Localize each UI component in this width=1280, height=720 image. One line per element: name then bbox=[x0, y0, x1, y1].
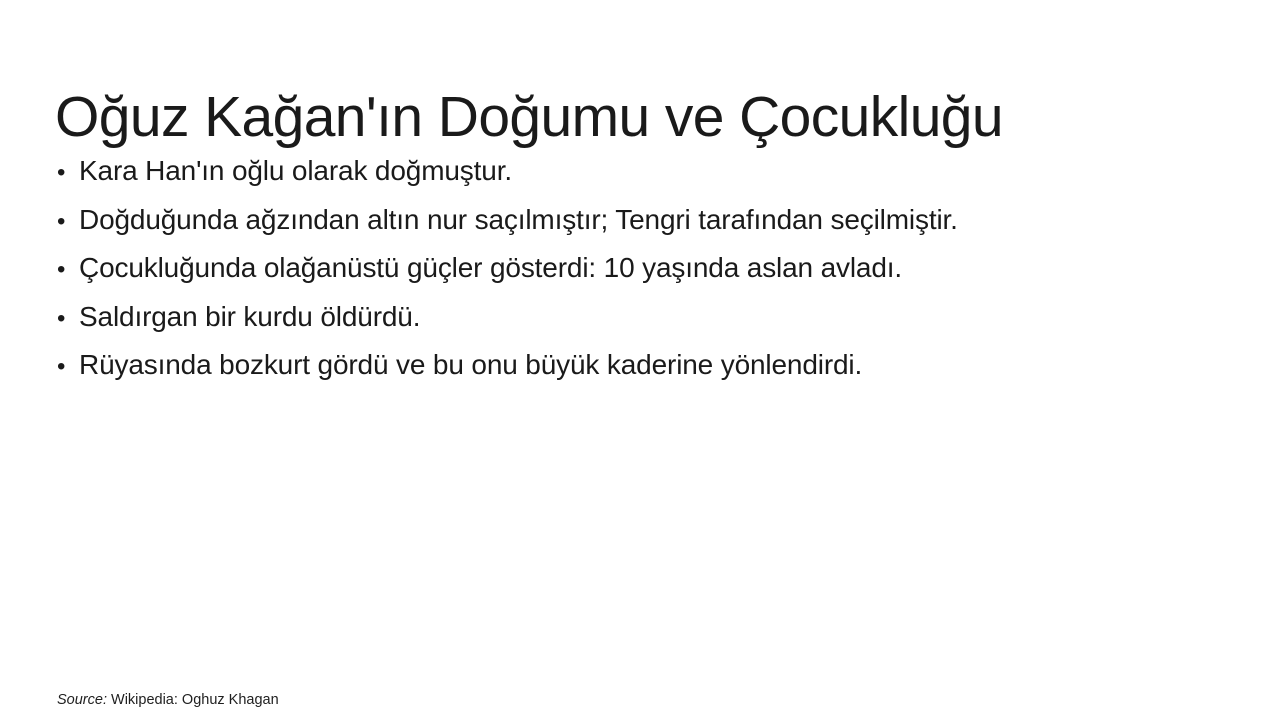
source-label: Source: bbox=[57, 692, 107, 708]
bullet-dot-icon: • bbox=[57, 296, 79, 343]
list-item-text: Kara Han'ın oğlu olarak doğmuştur. bbox=[79, 148, 512, 195]
source-value: Wikipedia: Oghuz Khagan bbox=[111, 692, 279, 708]
list-item: • Kara Han'ın oğlu olarak doğmuştur. bbox=[57, 148, 1237, 197]
bullet-dot-icon: • bbox=[57, 150, 79, 197]
list-item: • Doğduğunda ağzından altın nur saçılmış… bbox=[57, 197, 1237, 246]
list-item: • Rüyasında bozkurt gördü ve bu onu büyü… bbox=[57, 342, 1237, 391]
list-item: • Çocukluğunda olağanüstü güçler gösterd… bbox=[57, 245, 1237, 294]
list-item-text: Rüyasında bozkurt gördü ve bu onu büyük … bbox=[79, 342, 862, 389]
list-item-text: Saldırgan bir kurdu öldürdü. bbox=[79, 294, 420, 341]
list-item-text: Doğduğunda ağzından altın nur saçılmıştı… bbox=[79, 197, 958, 244]
presentation-slide: Oğuz Kağan'ın Doğumu ve Çocukluğu • Kara… bbox=[0, 0, 1280, 720]
bullet-dot-icon: • bbox=[57, 247, 79, 294]
bullet-list: • Kara Han'ın oğlu olarak doğmuştur. • D… bbox=[57, 148, 1237, 391]
list-item: • Saldırgan bir kurdu öldürdü. bbox=[57, 294, 1237, 343]
list-item-text: Çocukluğunda olağanüstü güçler gösterdi:… bbox=[79, 245, 902, 292]
bullet-dot-icon: • bbox=[57, 199, 79, 246]
slide-title: Oğuz Kağan'ın Doğumu ve Çocukluğu bbox=[55, 86, 1235, 149]
source-citation: Source: Wikipedia: Oghuz Khagan bbox=[57, 691, 279, 710]
bullet-dot-icon: • bbox=[57, 344, 79, 391]
